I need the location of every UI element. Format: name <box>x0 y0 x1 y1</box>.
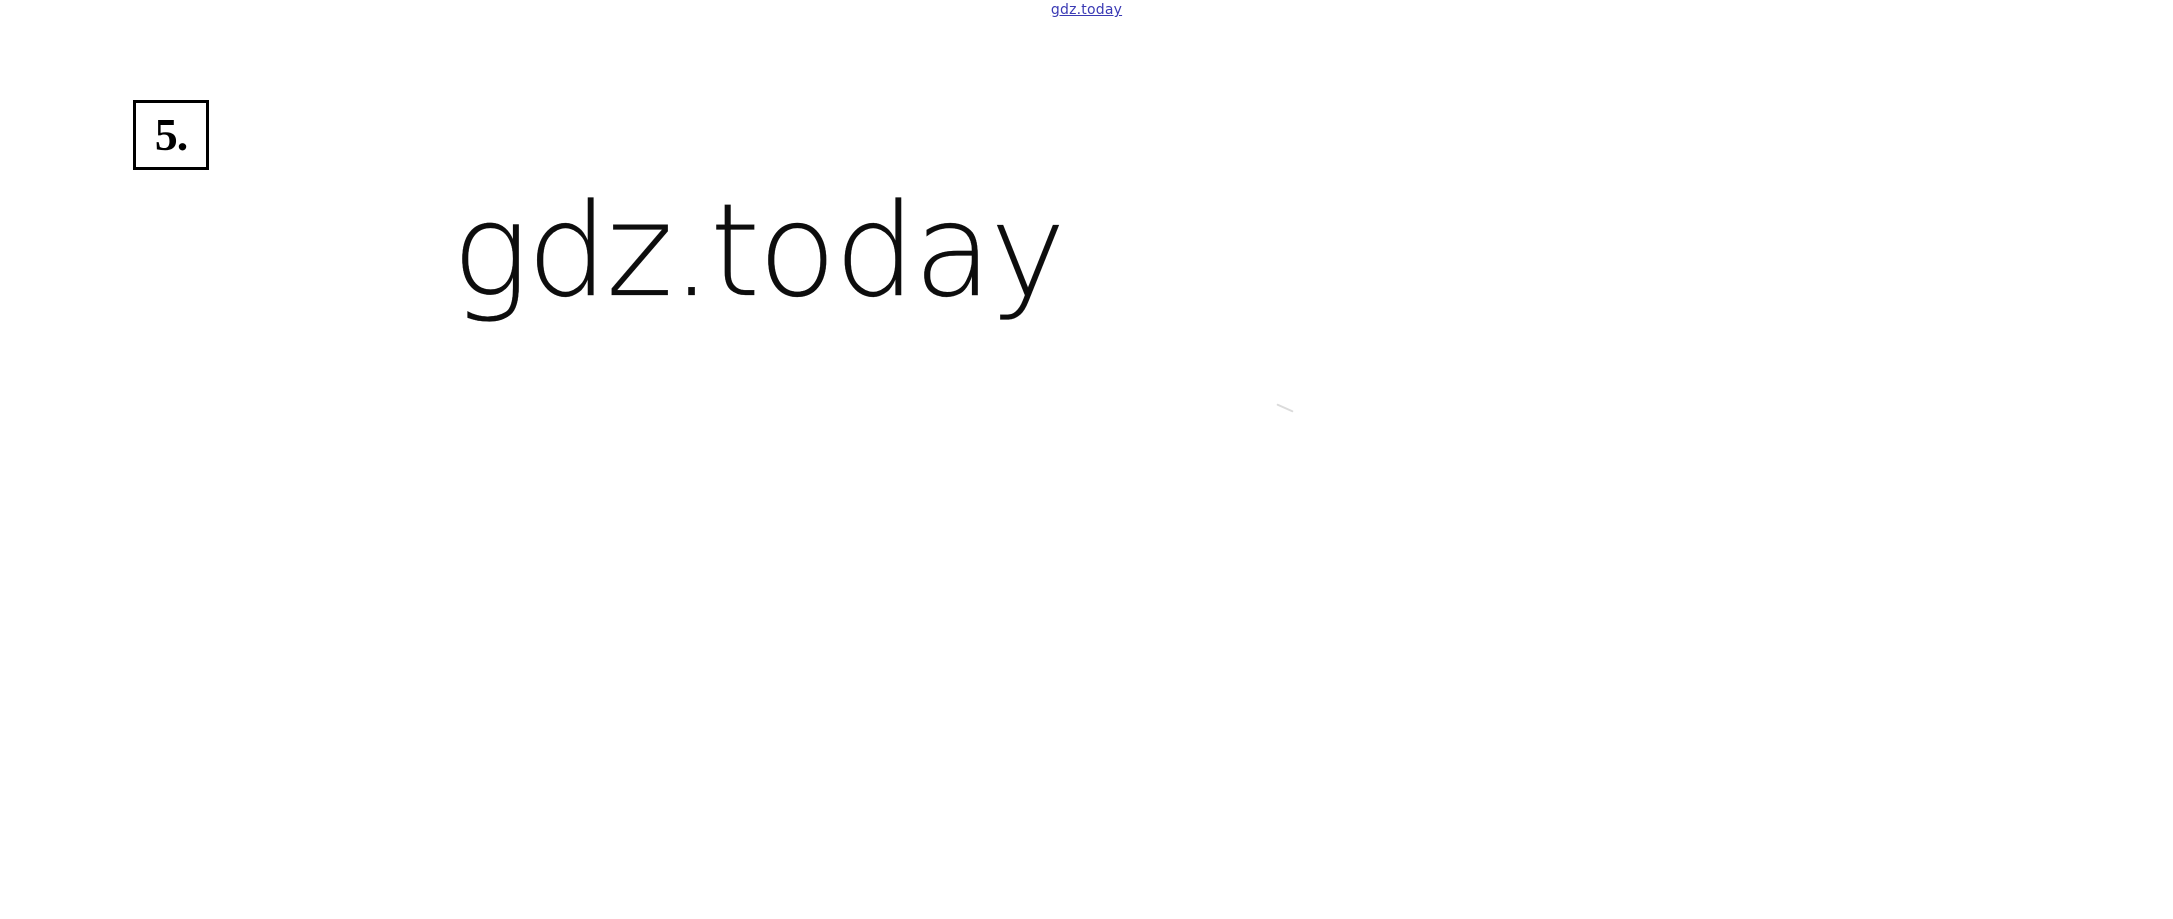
document-page: gdz.today 5. gdz.today <box>0 0 2173 919</box>
scan-speck-artifact <box>1276 404 1294 414</box>
scan-speck-mark <box>1276 403 1293 412</box>
top-watermark: gdz.today <box>0 0 2173 20</box>
main-watermark-text: gdz.today <box>452 182 992 322</box>
site-watermark-link[interactable]: gdz.today <box>1051 0 1122 20</box>
task-number-box: 5. <box>133 100 209 170</box>
task-number-label: 5. <box>136 112 206 158</box>
